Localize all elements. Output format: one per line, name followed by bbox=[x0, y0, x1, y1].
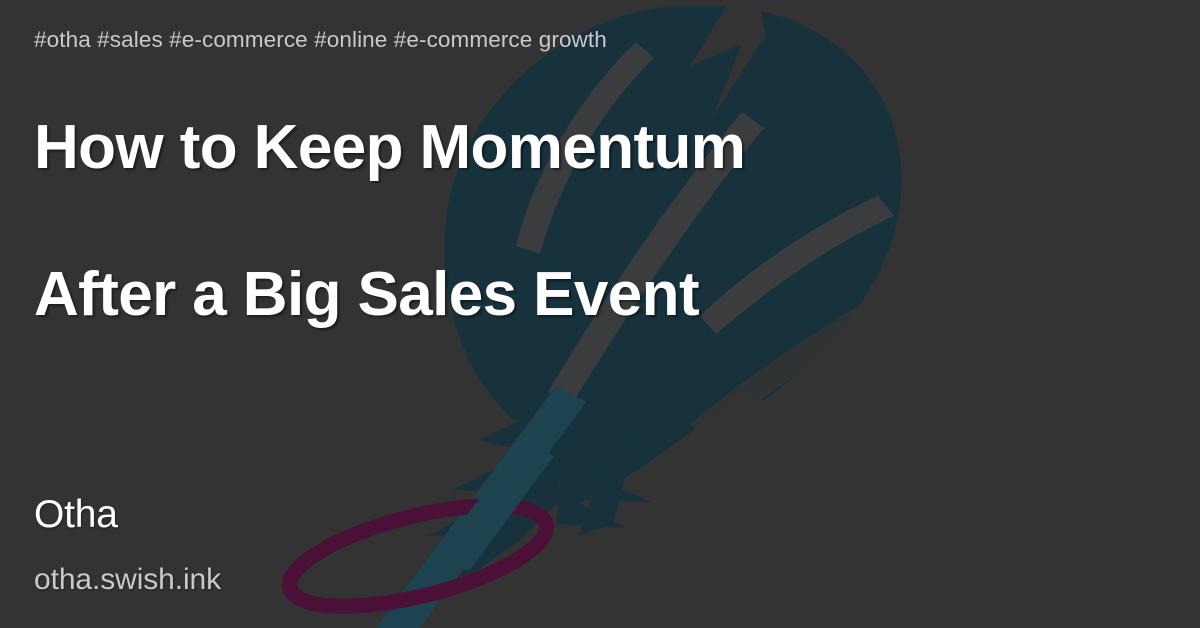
card-content: #otha #sales #e-commerce #online #e-comm… bbox=[0, 0, 1200, 628]
site-url: otha.swish.ink bbox=[34, 563, 1166, 596]
card-footer: Otha otha.swish.ink bbox=[34, 494, 1166, 596]
page-title: How to Keep Momentum After a Big Sales E… bbox=[34, 117, 1166, 326]
title-line-1: How to Keep Momentum bbox=[34, 117, 1166, 179]
site-name: Otha bbox=[34, 494, 1166, 537]
tag-list: #otha #sales #e-commerce #online #e-comm… bbox=[34, 26, 1166, 53]
social-share-card: #otha #sales #e-commerce #online #e-comm… bbox=[0, 0, 1200, 628]
title-line-2: After a Big Sales Event bbox=[34, 264, 1166, 326]
